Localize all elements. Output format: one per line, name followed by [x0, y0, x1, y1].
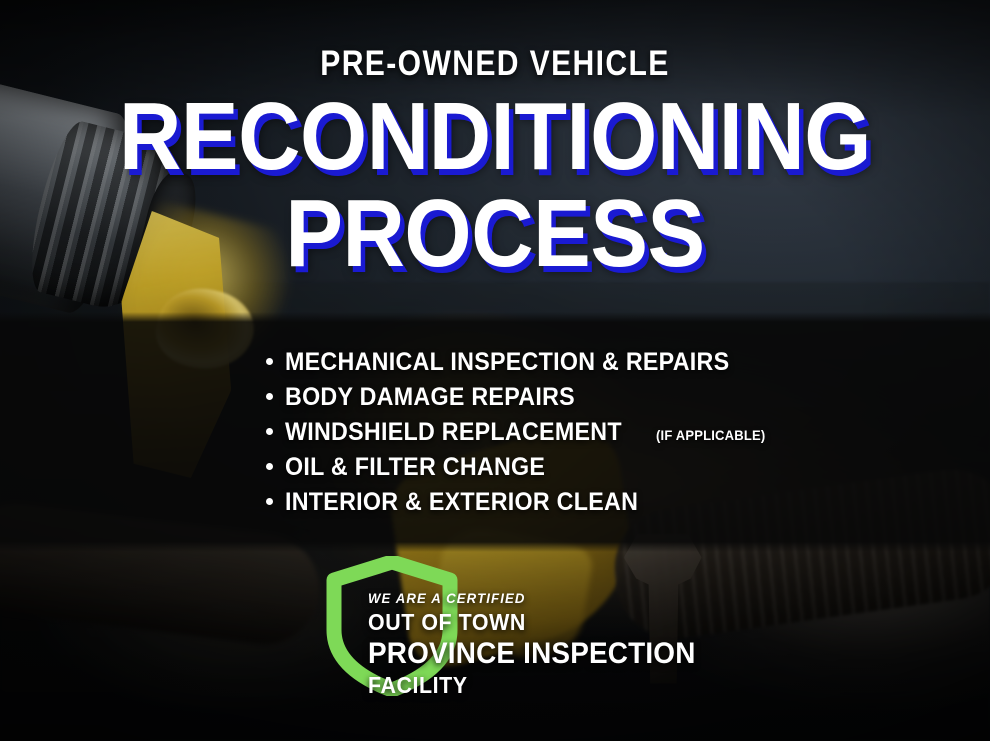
badge-line-4: FACILITY [368, 672, 696, 699]
reconditioning-process-poster: PRE-OWNED VEHICLE RECONDITIONING PROCESS… [0, 0, 990, 741]
bullet-dot-icon [266, 393, 273, 400]
title-line-2: PROCESS [50, 189, 941, 278]
bullet-dot-icon [266, 428, 273, 435]
list-item: INTERIOR & EXTERIOR CLEAN [266, 488, 774, 515]
list-item: MECHANICAL INSPECTION & REPAIRS [266, 348, 774, 375]
badge-line-2: OUT OF TOWN [368, 609, 696, 636]
kicker-heading: PRE-OWNED VEHICLE [69, 44, 920, 84]
bullet-dot-icon [266, 358, 273, 365]
title-line-1: RECONDITIONING [50, 92, 941, 181]
page-title: RECONDITIONING PROCESS [0, 92, 990, 279]
list-item: BODY DAMAGE REPAIRS [266, 383, 774, 410]
bullet-dot-icon [266, 498, 273, 505]
list-item-label: MECHANICAL INSPECTION & REPAIRS [285, 348, 729, 377]
poster-content: PRE-OWNED VEHICLE RECONDITIONING PROCESS… [0, 0, 990, 741]
list-item: WINDSHIELD REPLACEMENT (IF APPLICABLE) [266, 418, 774, 445]
service-list: MECHANICAL INSPECTION & REPAIRS BODY DAM… [266, 348, 774, 523]
list-item-label: INTERIOR & EXTERIOR CLEAN [285, 488, 638, 517]
bullet-dot-icon [266, 463, 273, 470]
list-item-label: BODY DAMAGE REPAIRS [285, 383, 575, 412]
list-item-label: OIL & FILTER CHANGE [285, 453, 545, 482]
list-item: OIL & FILTER CHANGE [266, 453, 774, 480]
badge-text-block: WE ARE A CERTIFIED OUT OF TOWN PROVINCE … [368, 590, 720, 699]
list-item-note: (IF APPLICABLE) [656, 427, 765, 443]
badge-line-3: PROVINCE INSPECTION [368, 637, 696, 671]
list-item-label: WINDSHIELD REPLACEMENT [285, 418, 622, 447]
badge-line-1: WE ARE A CERTIFIED [368, 590, 699, 606]
certification-badge: WE ARE A CERTIFIED OUT OF TOWN PROVINCE … [326, 556, 746, 696]
